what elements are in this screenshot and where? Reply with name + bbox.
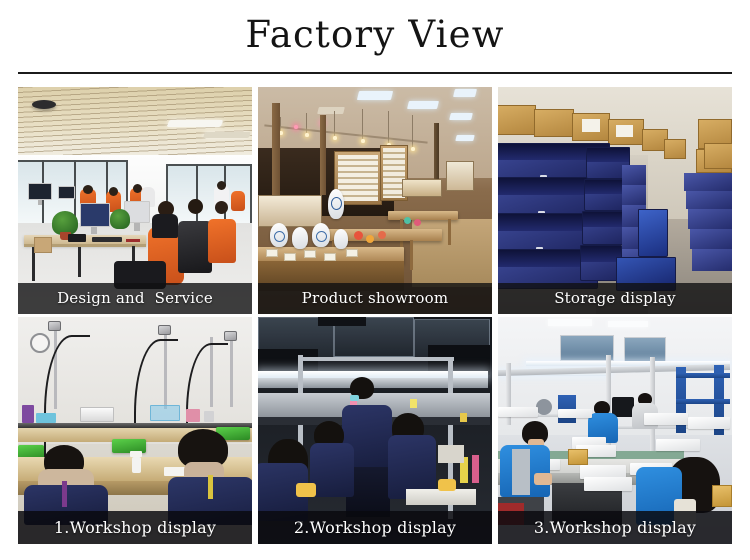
- monitor: [28, 183, 52, 200]
- bead-display: [354, 231, 363, 240]
- cardboard-box: [534, 109, 574, 137]
- glass-display-case: [446, 161, 474, 191]
- storage-bin-far: [690, 229, 732, 249]
- spotlight-stem: [280, 117, 281, 131]
- bin-opening: [581, 246, 621, 262]
- white-box: [688, 417, 730, 429]
- office-chair-foreground: [178, 221, 212, 273]
- page-title: Factory View: [245, 16, 504, 57]
- storage-bin-far: [688, 209, 732, 229]
- storage-bin-far: [684, 173, 732, 191]
- spotlight-icon: [411, 147, 415, 151]
- person-head: [83, 185, 93, 194]
- yellow-box: [568, 449, 588, 465]
- lanyard: [62, 481, 67, 507]
- worker-sleeve: [512, 449, 530, 495]
- container: [36, 413, 56, 423]
- tile-caption-bar: 2.Workshop display: [258, 511, 492, 544]
- bead-display: [378, 231, 386, 239]
- office-chair: [208, 219, 236, 263]
- spotlight-stem: [388, 111, 389, 143]
- gallery-tile-workshop-1[interactable]: 1.Workshop display: [18, 317, 252, 544]
- ceiling-vent: [203, 132, 251, 138]
- gallery-tile-workshop-2[interactable]: 2.Workshop display: [258, 317, 492, 544]
- tile-caption-bar: Product showroom: [258, 283, 492, 314]
- sticky-note: [460, 413, 467, 422]
- monitor-stand: [38, 200, 42, 205]
- person-seated: [152, 214, 178, 238]
- storage-bin-far: [622, 185, 646, 205]
- desk-leg: [78, 247, 81, 277]
- white-box: [558, 409, 592, 418]
- equipment-head: [158, 325, 171, 335]
- ceiling-light-panel: [453, 89, 477, 97]
- tile-caption: 3.Workshop display: [534, 520, 696, 536]
- ceiling-light: [548, 319, 592, 326]
- price-card: [266, 249, 278, 257]
- price-card: [284, 253, 296, 261]
- blue-shelving: [676, 399, 730, 404]
- earring-cards: [338, 155, 378, 201]
- sticky-note: [410, 399, 417, 408]
- tray: [438, 445, 464, 463]
- tile-caption-bar: Storage display: [498, 283, 732, 314]
- bottle: [22, 405, 34, 423]
- bead-display: [366, 235, 374, 243]
- ceiling-tile: [317, 107, 345, 114]
- magnifier-lens-icon: [30, 333, 50, 353]
- price-card: [346, 249, 358, 257]
- work-item: [296, 483, 316, 497]
- tool: [472, 455, 479, 483]
- cardboard-box: [704, 143, 732, 169]
- tile-caption: Design and Service: [57, 291, 213, 306]
- storage-bin: [582, 211, 624, 245]
- person-head: [217, 181, 226, 190]
- monitor: [58, 186, 75, 199]
- glass-display-case: [258, 195, 322, 227]
- bin-opening: [587, 148, 629, 162]
- tile-caption-bar: 3.Workshop display: [498, 511, 732, 544]
- storage-photo: Storage display: [498, 87, 732, 314]
- container: [204, 411, 214, 422]
- equipment: [612, 397, 634, 417]
- showroom-photo: Product showroom: [258, 87, 492, 314]
- tile-caption: Product showroom: [302, 291, 449, 306]
- spotlight-stem: [306, 113, 307, 133]
- plastic-basket: [150, 405, 180, 421]
- face-mask: [350, 395, 359, 401]
- office-photo: Design and Service: [18, 87, 252, 314]
- monitor-main: [80, 203, 110, 227]
- person-head: [215, 201, 228, 214]
- title-divider: [18, 72, 732, 74]
- window: [624, 337, 666, 363]
- workbench-photo: 1.Workshop display: [18, 317, 252, 544]
- storage-bin-far: [692, 249, 732, 271]
- window-mullion: [196, 164, 198, 228]
- gallery-tile-design-and-service[interactable]: Design and Service: [18, 87, 252, 314]
- showroom-column: [320, 115, 326, 195]
- tile-caption: 2.Workshop display: [294, 520, 456, 536]
- white-box: [498, 407, 538, 417]
- factory-photo-grid: Design and Service: [0, 87, 750, 544]
- glue-bottle: [132, 457, 141, 473]
- laptop: [68, 234, 86, 242]
- necklace-bust: [334, 229, 348, 249]
- worker-seated: [310, 443, 354, 497]
- equipment-head: [224, 331, 237, 341]
- ceiling-light-panel: [455, 135, 474, 141]
- spotlight-stem: [334, 111, 335, 136]
- cardboard-box: [498, 105, 536, 135]
- monitor-stand: [134, 223, 140, 231]
- bead-display: [414, 219, 421, 226]
- tile-caption: Storage display: [554, 291, 676, 306]
- cardboard-box: [34, 237, 52, 253]
- page-header: Factory View: [0, 0, 750, 72]
- box-label: [616, 125, 633, 137]
- spotlight-icon: [333, 136, 337, 140]
- price-card: [304, 250, 316, 258]
- container: [186, 409, 200, 422]
- ceiling-beam: [318, 317, 366, 326]
- factory-view-page: Factory View: [0, 0, 750, 560]
- ceiling-light: [608, 321, 648, 327]
- bead-display: [404, 217, 411, 224]
- fan-icon: [536, 399, 552, 415]
- tile-caption: 1.Workshop display: [54, 520, 216, 536]
- spotlight-icon: [361, 139, 365, 143]
- work-item: [438, 479, 456, 491]
- price-card: [324, 253, 336, 261]
- showroom-column: [272, 103, 280, 207]
- storage-bin: [584, 179, 626, 211]
- fluorescent-tube: [258, 371, 488, 378]
- packing-photo: 3.Workshop display: [498, 317, 732, 544]
- tile-caption-bar: Design and Service: [18, 283, 252, 314]
- necklace-bust: [292, 227, 308, 249]
- box-label: [582, 119, 600, 132]
- ceiling-light-panel: [449, 113, 473, 120]
- necklace: [331, 197, 342, 210]
- ceiling-lamp-icon: [32, 100, 56, 109]
- bin-opening: [583, 212, 623, 227]
- spotlight-stem: [362, 109, 363, 139]
- table-leg: [410, 240, 413, 270]
- gallery-tile-storage-display[interactable]: Storage display: [498, 87, 732, 314]
- tile-caption-bar: 1.Workshop display: [18, 511, 252, 544]
- ceiling-light-panel: [407, 101, 439, 109]
- necklace: [274, 231, 285, 242]
- bin-opening: [585, 180, 625, 194]
- equipment-box: [80, 407, 114, 422]
- spotlight-icon: [305, 133, 309, 137]
- storage-bin-far: [622, 165, 646, 185]
- spotlight-stem: [412, 115, 413, 147]
- worker-hand: [534, 473, 552, 485]
- mouse-pad: [126, 239, 140, 242]
- person-head: [188, 199, 203, 214]
- spotlight-icon: [294, 125, 298, 129]
- person-head: [109, 187, 118, 196]
- ceiling-light-panel: [357, 91, 393, 100]
- monitor-stand: [91, 227, 97, 234]
- storage-bin-far: [686, 191, 732, 209]
- gallery-tile-workshop-3[interactable]: 3.Workshop display: [498, 317, 732, 544]
- gallery-tile-product-showroom[interactable]: Product showroom: [258, 87, 492, 314]
- support-pole: [230, 341, 233, 407]
- necklace: [316, 231, 327, 242]
- desk-plant: [110, 209, 130, 229]
- lanyard: [208, 475, 213, 499]
- office-chair: [231, 191, 245, 211]
- inspection-photo: 2.Workshop display: [258, 317, 492, 544]
- cardboard-box: [664, 139, 686, 159]
- frame-rail: [298, 357, 454, 361]
- equipment-head: [48, 321, 61, 331]
- white-box: [644, 413, 688, 425]
- yellow-box: [712, 485, 732, 507]
- glass-display-case: [402, 179, 442, 197]
- table-leg: [448, 219, 451, 245]
- blue-shelving: [676, 373, 730, 378]
- keyboard: [92, 237, 122, 242]
- white-box: [584, 477, 632, 491]
- paper-stack: [406, 489, 476, 505]
- ceiling-panel: [167, 120, 224, 127]
- storage-bin: [638, 209, 668, 257]
- white-box: [656, 439, 700, 451]
